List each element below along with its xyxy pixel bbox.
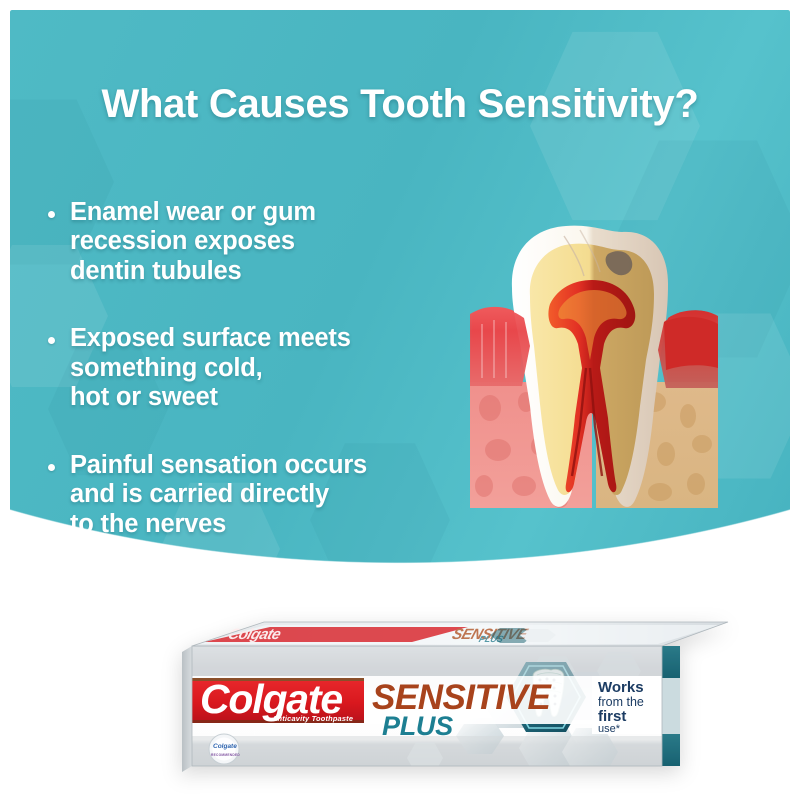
- bullet-exposed-surface: Exposed surface meets something cold, ho…: [70, 324, 351, 412]
- bullet-dot-icon: [48, 211, 55, 218]
- top-panel-brand: Colgate: [226, 626, 284, 643]
- variant-name-line2: PLUS: [382, 711, 453, 741]
- list-item: Exposed surface meets something cold, ho…: [48, 324, 468, 412]
- claim-line-1: Works: [598, 679, 644, 696]
- bullet-dot-icon: [48, 337, 55, 344]
- list-item: Enamel wear or gum recession exposes den…: [48, 198, 468, 286]
- claim-line-2: from the: [598, 695, 644, 709]
- page-title: What Causes Tooth Sensitivity?: [10, 82, 790, 127]
- bullet-dot-icon: [48, 464, 55, 471]
- bullet-enamel-wear: Enamel wear or gum recession exposes den…: [70, 198, 316, 286]
- tooth-cross-section-diagram: [468, 218, 720, 508]
- product-package-colgate-sensitive-plus[interactable]: Colgate SENSITIVE PLUS: [168, 618, 728, 790]
- seal-brand: Colgate: [213, 743, 237, 750]
- claim-panel: Works from the first use*: [592, 676, 662, 735]
- infographic-canvas: What Causes Tooth Sensitivity? Enamel we…: [0, 0, 800, 800]
- box-top-panel-branding: Colgate SENSITIVE PLUS: [204, 626, 530, 644]
- colgate-logo-block: Colgate Anticavity Toothpaste: [192, 676, 364, 723]
- bullet-painful-sensation: Painful sensation occurs and is carried …: [70, 451, 367, 539]
- list-item: Painful sensation occurs and is carried …: [48, 451, 468, 539]
- claim-line-4: use*: [598, 723, 621, 735]
- brand-tagline: Anticavity Toothpaste: [271, 714, 353, 723]
- seal-subtitle: RECOMMENDED: [211, 753, 240, 757]
- causes-bullet-list: Enamel wear or gum recession exposes den…: [48, 198, 468, 577]
